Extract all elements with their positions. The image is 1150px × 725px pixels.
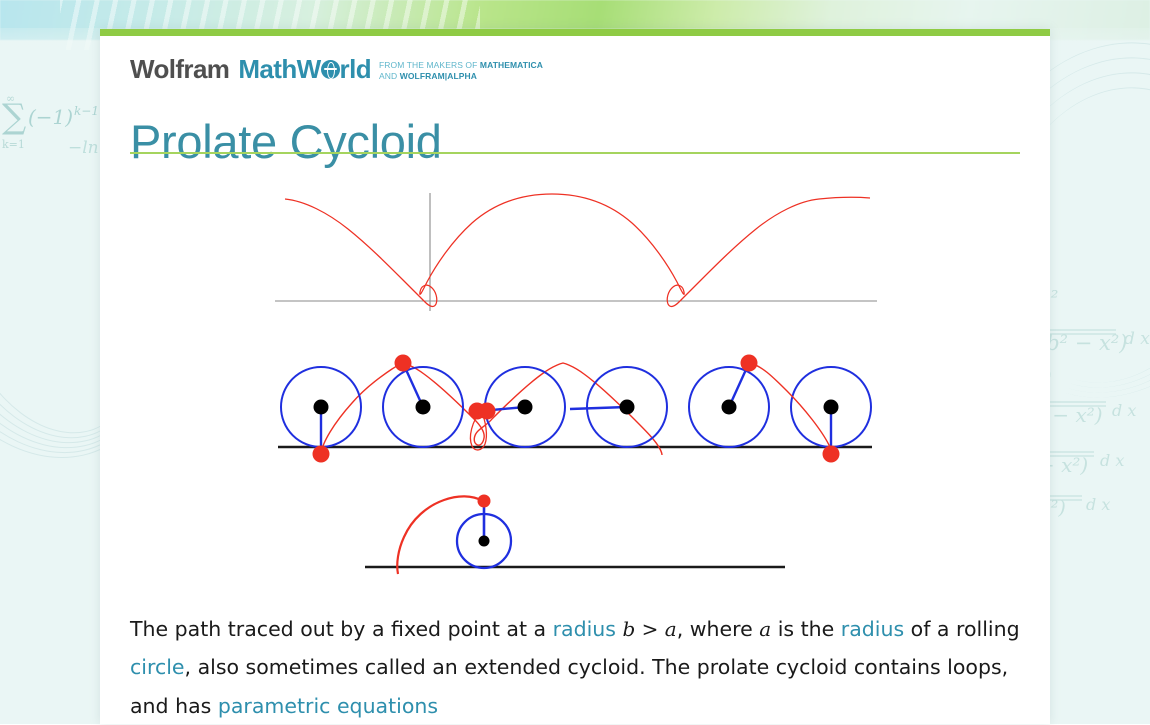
math-var-a-2: a <box>759 617 771 641</box>
svg-text:d x: d x <box>1086 495 1110 514</box>
link-radius-2[interactable]: radius <box>841 617 904 641</box>
figure-prolate-cycloid-plot <box>100 161 1050 316</box>
svg-text:d x: d x <box>1112 401 1136 420</box>
svg-text:d x: d x <box>1124 329 1150 349</box>
cycloid-partial-arc <box>397 496 483 574</box>
logo-tagline: FROM THE MAKERS OF MATHEMATICA AND WOLFR… <box>379 60 543 82</box>
math-gt: > <box>635 617 664 641</box>
svg-text:(−1): (−1) <box>28 105 73 129</box>
circle-center-dot <box>620 400 635 415</box>
svg-text:∑: ∑ <box>2 97 26 137</box>
tagline-line1-strong: MATHEMATICA <box>480 60 543 70</box>
circle-center-dot <box>479 536 490 547</box>
trace-point <box>823 446 840 463</box>
globe-icon <box>321 60 340 79</box>
link-parametric-equations[interactable]: parametric equations <box>218 694 438 718</box>
background-formula-left-tail: −ln <box>68 138 99 158</box>
svg-text:k−1: k−1 <box>74 104 99 118</box>
figure-rolling-circle-construction <box>100 319 1050 469</box>
circle-center-dot <box>416 400 431 415</box>
tagline-line-2: AND WOLFRAM|ALPHA <box>379 71 477 81</box>
link-circle[interactable]: circle <box>130 655 185 679</box>
link-radius-1[interactable]: radius <box>553 617 616 641</box>
logo-wolfram-text: Wolfram <box>130 56 229 82</box>
content-card: Wolfram MathW rld FROM THE MAKERS OF MAT… <box>100 29 1050 724</box>
svg-text:k=1: k=1 <box>2 138 25 151</box>
site-logo[interactable]: Wolfram MathW rld FROM THE MAKERS OF MAT… <box>130 56 543 82</box>
trace-point <box>478 495 491 508</box>
body-seg-1: The path traced out by a fixed point at … <box>130 617 553 641</box>
trace-point <box>395 355 412 372</box>
trace-point <box>479 403 496 420</box>
title-divider <box>130 152 1020 154</box>
tagline-line2-pre: AND <box>379 71 400 81</box>
page-title: Prolate Cycloid <box>130 118 442 165</box>
circle-center-dot <box>518 400 533 415</box>
trace-point <box>313 446 330 463</box>
background-formula-right: x² (b² − x²) d x ²) ² − x²) d x − x²) d … <box>1038 282 1150 527</box>
math-var-a: a <box>665 617 677 641</box>
tagline-line2-strong: WOLFRAM|ALPHA <box>400 71 477 81</box>
circle-center-dot <box>722 400 737 415</box>
prolate-cycloid-curve <box>285 194 870 306</box>
article-body-paragraph: The path traced out by a fixed point at … <box>130 610 1020 725</box>
tagline-line1-pre: FROM THE MAKERS OF <box>379 60 480 70</box>
circle-center-dot <box>824 400 839 415</box>
logo-mathworld-text: MathW rld <box>238 56 371 82</box>
math-var-b: b <box>623 617 636 641</box>
radius-line <box>570 407 627 409</box>
body-seg-3: , where <box>677 617 760 641</box>
body-seg-4: is the <box>771 617 841 641</box>
figure-rolling-circle-animation-frame <box>100 464 1050 584</box>
circle-center-dot <box>314 400 329 415</box>
green-accent-bar <box>100 29 1050 36</box>
tagline-line-1: FROM THE MAKERS OF MATHEMATICA <box>379 60 543 70</box>
logo-mathw-text: MathW <box>238 56 320 82</box>
svg-text:d x: d x <box>1100 451 1124 470</box>
logo-rld-text: rld <box>340 56 371 82</box>
body-seg-5: of a rolling <box>904 617 1019 641</box>
